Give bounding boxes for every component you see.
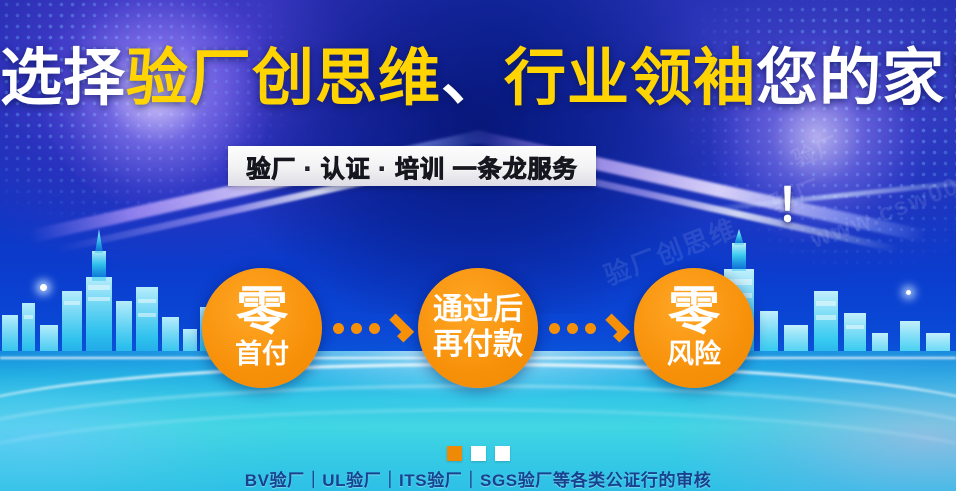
arrow-separator-2 (538, 268, 634, 388)
arrow-dot-icon (351, 323, 362, 334)
arrow-dot-icon (567, 323, 578, 334)
step-3-big-text: 零 (668, 288, 720, 338)
steps-row: 零 首付 通过后 再付款 零 风险 (0, 266, 956, 390)
banner-slide: 选择验厂创思维、行业领袖您的家！ 验厂 · 认证 · 培训 一条龙服务 ！ 零 … (0, 0, 956, 491)
carousel-pagination (0, 446, 956, 461)
headline-segment-4: 您的家！ (756, 44, 956, 113)
step-circle-zero-downpayment[interactable]: 零 首付 (202, 268, 322, 388)
subtitle-bar: 验厂 · 认证 · 培训 一条龙服务 (228, 146, 596, 186)
headline-segment-0: 选择 (0, 44, 126, 113)
chevron-right-icon (385, 314, 414, 343)
pagination-dot-3[interactable] (495, 446, 510, 461)
arrow-dot-icon (585, 323, 596, 334)
headline-segment-3: 行业领袖 (504, 44, 756, 113)
step-circle-pay-after-pass[interactable]: 通过后 再付款 (418, 268, 538, 388)
arrow-dot-icon (549, 323, 560, 334)
step-2-line-2: 再付款 (433, 328, 523, 363)
headline-segment-1: 验厂创思维 (126, 44, 441, 113)
page-title: 选择验厂创思维、行业领袖您的家！ (0, 48, 956, 110)
exclamation-mark: ！ (776, 182, 822, 228)
arrow-dot-icon (333, 323, 344, 334)
step-1-big-text: 零 (236, 288, 288, 338)
arrow-separator-1 (322, 268, 418, 388)
pagination-dot-1[interactable] (447, 446, 462, 461)
subtitle-text: 验厂 · 认证 · 培训 一条龙服务 (246, 149, 577, 184)
banner-caption: BV验厂｜UL验厂｜ITS验厂｜SGS验厂等各类公证行的审核 (0, 466, 956, 491)
arrow-dot-icon (369, 323, 380, 334)
headline-segment-2: 、 (441, 44, 504, 113)
pagination-dot-2[interactable] (471, 446, 486, 461)
step-circle-zero-risk[interactable]: 零 风险 (634, 268, 754, 388)
step-2-line-1: 通过后 (433, 293, 523, 328)
step-3-small-text: 风险 (667, 340, 721, 368)
chevron-right-icon (601, 314, 630, 343)
step-1-small-text: 首付 (235, 340, 289, 368)
